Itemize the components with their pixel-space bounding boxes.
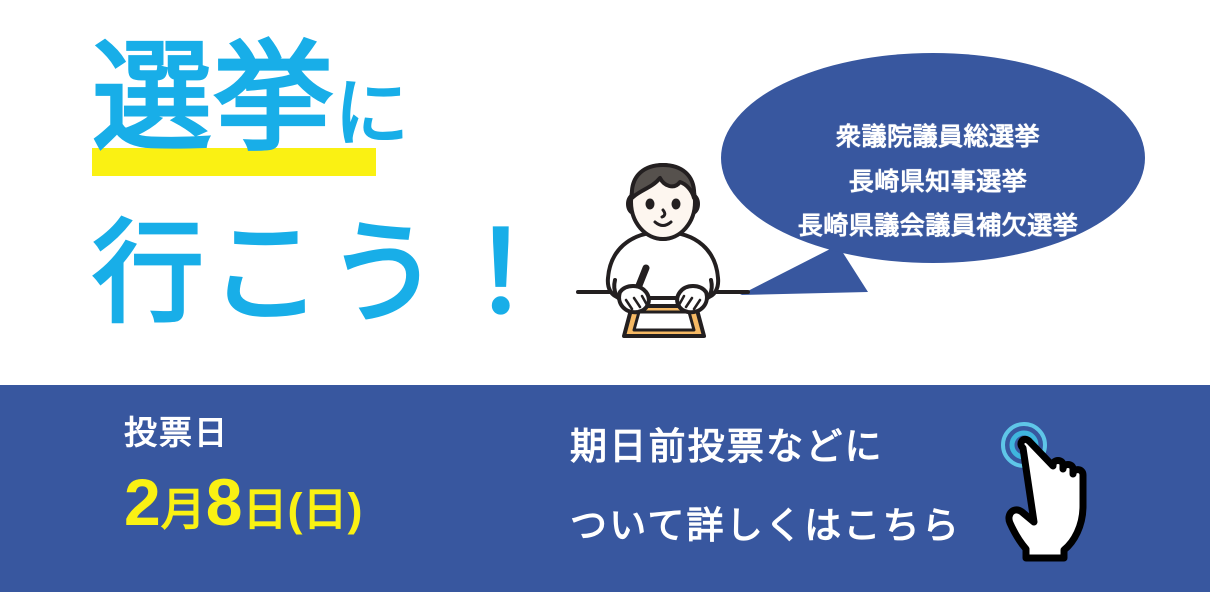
voting-day-number: 8 [206,465,243,539]
eye-left [646,199,655,210]
more-info-line-2: ついて詳しくはこちら [570,507,961,544]
pointing-hand-cursor[interactable] [990,418,1110,568]
more-info-line-1: 期日前投票などに [570,428,961,465]
headline-particle: に [334,72,410,155]
pointing-hand-cursor-svg [990,418,1110,568]
election-banner: 選挙に 行こう！ 衆議院議員総選挙 長崎県知事選挙 長崎県議会議員補欠選挙 [0,0,1210,592]
bubble-line-3: 長崎県議会議員補欠選挙 [718,204,1158,249]
voting-weekday: (日) [287,484,362,535]
speech-bubble: 衆議院議員総選挙 長崎県知事選挙 長崎県議会議員補欠選挙 [718,45,1158,310]
voting-day-block: 投票日 2月8日(日) [124,415,362,535]
ballot-paper [634,312,694,330]
voting-month-number: 2 [124,465,161,539]
headline-emphasis: 選挙 [92,31,334,165]
headline: 選挙に 行こう！ [92,28,562,358]
headline-line-1: 選挙に [92,38,410,158]
headline-line-2: 行こう！ [92,218,562,330]
bubble-line-2: 長崎県知事選挙 [718,160,1158,205]
voting-day-unit: 日 [242,484,287,535]
voting-month-unit: 月 [161,484,206,535]
speech-bubble-text: 衆議院議員総選挙 長崎県知事選挙 長崎県議会議員補欠選挙 [718,115,1158,249]
person-writing-ballot-illustration [568,160,758,350]
voting-date: 2月8日(日) [124,469,362,535]
person-illustration-svg [568,160,758,350]
voting-day-label: 投票日 [124,415,362,451]
eye-right [672,199,681,210]
more-info-link[interactable]: 期日前投票などに ついて詳しくはこちら [570,428,961,544]
bubble-line-1: 衆議院議員総選挙 [718,115,1158,160]
